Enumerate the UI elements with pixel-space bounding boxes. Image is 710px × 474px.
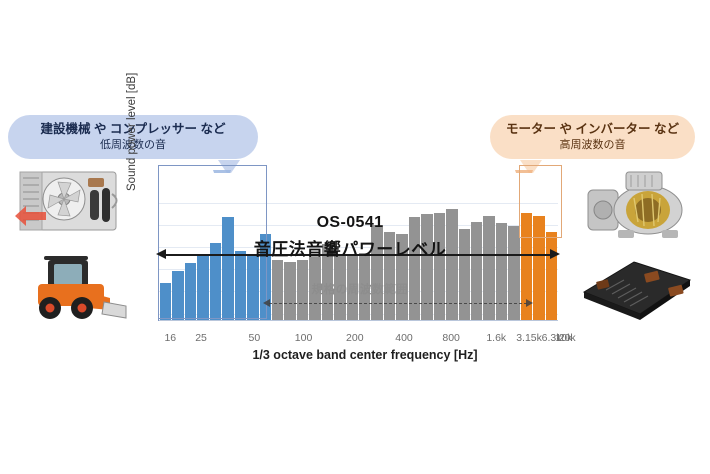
bar (508, 226, 519, 321)
standard-range-arrow-right-head-icon (526, 299, 533, 307)
figure-root: 建設機械 や コンプレッサー など 低周波数の音 モーター や インバーター な… (0, 0, 710, 474)
x-tick-label: 800 (442, 332, 460, 344)
full-range-arrow-right-head-icon (550, 249, 560, 259)
callout-high-frequency: モーター や インバーター など 高周波数の音 (490, 115, 695, 159)
electric-motor-photo (578, 168, 690, 244)
measurement-code-label: OS-0541 (250, 214, 450, 232)
skid-steer-loader-photo (18, 250, 130, 322)
standard-range-arrow (269, 303, 527, 304)
full-range-arrow-left-head-icon (156, 249, 166, 259)
highlight-box-high-frequency (519, 165, 562, 238)
measurement-title-label: 音圧法音響パワーレベル (215, 235, 485, 260)
standard-range-label: 規格の周波数範囲 (265, 281, 455, 297)
bar (496, 223, 507, 321)
x-tick-label: 400 (395, 332, 413, 344)
y-axis-label: Sound power level [dB] (126, 79, 138, 191)
inverter-module-photo (578, 252, 694, 322)
x-axis-label: 1/3 octave band center frequency [Hz] (150, 348, 580, 362)
x-tick-label: 100 (295, 332, 313, 344)
callout-right-line1: モーター や インバーター など (504, 121, 681, 137)
callout-right-line2: 高周波数の音 (504, 138, 681, 152)
standard-range-arrow-left-head-icon (263, 299, 270, 307)
x-tick-label: 1.6k (486, 332, 506, 344)
bar (409, 217, 420, 321)
x-tick-label: 3.15k (516, 332, 542, 344)
x-tick-label: 200 (346, 332, 364, 344)
x-tick-label: 25 (195, 332, 207, 344)
bar (546, 232, 557, 321)
x-tick-label: 16 (164, 332, 176, 344)
compressor-unit-photo (14, 168, 126, 240)
x-axis-ticks: 1625501002004008001.6k3.15k6.3k10k20k (158, 332, 568, 346)
x-tick-label: 20k (559, 332, 576, 344)
bar (483, 216, 494, 321)
x-tick-label: 50 (249, 332, 261, 344)
x-axis-line (159, 320, 558, 321)
